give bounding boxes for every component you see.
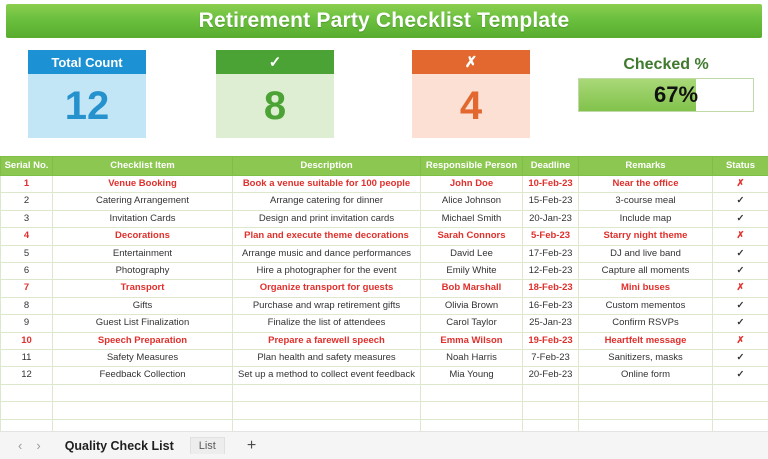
cell-serial[interactable]: 7 — [1, 280, 53, 297]
cell-remarks[interactable]: Sanitizers, masks — [579, 350, 713, 367]
column-header-serial[interactable]: Serial No. — [1, 157, 53, 176]
cell-description[interactable]: Plan health and safety measures — [233, 350, 421, 367]
status-cross-icon[interactable]: ✗ — [713, 176, 768, 193]
status-cross-icon[interactable]: ✗ — [713, 280, 768, 297]
cell-remarks[interactable]: Custom mementos — [579, 297, 713, 314]
add-sheet-icon[interactable]: + — [247, 437, 256, 455]
cell-checklist-item[interactable]: Safety Measures — [53, 350, 233, 367]
status-check-icon[interactable]: ✓ — [713, 315, 768, 332]
cell-remarks[interactable]: 3-course meal — [579, 193, 713, 210]
cell-description[interactable]: Arrange music and dance performances — [233, 245, 421, 262]
cell-empty[interactable] — [53, 384, 233, 401]
column-header-description[interactable]: Description — [233, 157, 421, 176]
cell-empty[interactable] — [523, 384, 579, 401]
cell-description[interactable]: Book a venue suitable for 100 people — [233, 176, 421, 193]
checklist-table: Serial No. Checklist Item Description Re… — [0, 156, 768, 455]
cell-serial[interactable]: 3 — [1, 210, 53, 227]
table-row[interactable]: 8GiftsPurchase and wrap retirement gifts… — [1, 297, 768, 314]
table-row[interactable]: 2Catering ArrangementArrange catering fo… — [1, 193, 768, 210]
cell-serial[interactable]: 1 — [1, 176, 53, 193]
cell-empty[interactable] — [523, 402, 579, 419]
cell-checklist-item[interactable]: Feedback Collection — [53, 367, 233, 384]
kpi-card-total-count: Total Count 12 — [28, 50, 146, 138]
cell-serial[interactable]: 12 — [1, 367, 53, 384]
cell-description[interactable]: Purchase and wrap retirement gifts — [233, 297, 421, 314]
cell-deadline[interactable]: 17-Feb-23 — [523, 245, 579, 262]
sheet-grid[interactable]: Serial No. Checklist Item Description Re… — [0, 156, 768, 432]
cell-empty[interactable] — [53, 402, 233, 419]
cell-serial[interactable]: 8 — [1, 297, 53, 314]
kpi-total-count-value: 12 — [28, 74, 146, 138]
cell-serial[interactable]: 4 — [1, 228, 53, 245]
cell-checklist-item[interactable]: Entertainment — [53, 245, 233, 262]
cell-responsible-person[interactable]: John Doe — [421, 176, 523, 193]
cell-serial[interactable]: 6 — [1, 263, 53, 280]
cell-remarks[interactable]: Mini buses — [579, 280, 713, 297]
cell-deadline[interactable]: 16-Feb-23 — [523, 297, 579, 314]
cell-remarks[interactable]: Online form — [579, 367, 713, 384]
table-row[interactable]: 9Guest List FinalizationFinalize the lis… — [1, 315, 768, 332]
cell-checklist-item[interactable]: Catering Arrangement — [53, 193, 233, 210]
cell-empty[interactable] — [1, 384, 53, 401]
cell-responsible-person[interactable]: Emily White — [421, 263, 523, 280]
kpi-band: Total Count 12 ✓ 8 ✗ 4 Checked % 67% — [0, 42, 768, 150]
cell-responsible-person[interactable]: Noah Harris — [421, 350, 523, 367]
cell-deadline[interactable]: 5-Feb-23 — [523, 228, 579, 245]
cell-empty[interactable] — [579, 402, 713, 419]
checked-percent-bar: 67% — [578, 78, 754, 112]
cell-description[interactable]: Arrange catering for dinner — [233, 193, 421, 210]
cell-deadline[interactable]: 15-Feb-23 — [523, 193, 579, 210]
cell-checklist-item[interactable]: Transport — [53, 280, 233, 297]
cell-responsible-person[interactable]: Michael Smith — [421, 210, 523, 227]
table-row[interactable]: 6PhotographyHire a photographer for the … — [1, 263, 768, 280]
spreadsheet-app: Retirement Party Checklist Template Tota… — [0, 0, 768, 459]
cell-serial[interactable]: 10 — [1, 332, 53, 349]
cell-deadline[interactable]: 7-Feb-23 — [523, 350, 579, 367]
cell-deadline[interactable]: 20-Feb-23 — [523, 367, 579, 384]
sheet-tab-list[interactable]: List — [190, 437, 225, 454]
sheet-nav-arrows[interactable]: ‹ › — [18, 438, 41, 453]
cell-description[interactable]: Finalize the list of attendees — [233, 315, 421, 332]
cell-remarks[interactable]: Capture all moments — [579, 263, 713, 280]
cell-description[interactable]: Set up a method to collect event feedbac… — [233, 367, 421, 384]
cell-responsible-person[interactable]: Bob Marshall — [421, 280, 523, 297]
checked-percent-value: 67% — [589, 79, 754, 111]
chevron-left-icon[interactable]: ‹ — [18, 438, 22, 453]
cell-empty[interactable] — [233, 384, 421, 401]
cell-deadline[interactable]: 19-Feb-23 — [523, 332, 579, 349]
page-title: Retirement Party Checklist Template — [199, 9, 570, 33]
table-row-empty[interactable] — [1, 402, 768, 419]
cell-remarks[interactable]: Heartfelt message — [579, 332, 713, 349]
cell-checklist-item[interactable]: Speech Preparation — [53, 332, 233, 349]
cell-remarks[interactable]: Starry night theme — [579, 228, 713, 245]
column-header-checklist-item[interactable]: Checklist Item — [53, 157, 233, 176]
cell-checklist-item[interactable]: Photography — [53, 263, 233, 280]
kpi-total-count-label: Total Count — [28, 50, 146, 74]
cell-serial[interactable]: 5 — [1, 245, 53, 262]
kpi-unchecked-count-value: 4 — [412, 74, 530, 138]
cell-deadline[interactable]: 25-Jan-23 — [523, 315, 579, 332]
cell-serial[interactable]: 9 — [1, 315, 53, 332]
status-cross-icon[interactable]: ✗ — [713, 228, 768, 245]
table-row-empty[interactable] — [1, 384, 768, 401]
checked-percent-label: Checked % — [578, 56, 754, 74]
table-header-row: Serial No. Checklist Item Description Re… — [1, 157, 768, 176]
table-row[interactable]: 11Safety MeasuresPlan health and safety … — [1, 350, 768, 367]
sheet-tab-quality-check-list[interactable]: Quality Check List — [59, 439, 180, 453]
cell-checklist-item[interactable]: Decorations — [53, 228, 233, 245]
check-icon: ✓ — [216, 50, 334, 74]
kpi-card-checked-count: ✓ 8 — [216, 50, 334, 138]
cell-responsible-person[interactable]: Carol Taylor — [421, 315, 523, 332]
table-row[interactable]: 5EntertainmentArrange music and dance pe… — [1, 245, 768, 262]
column-header-remarks[interactable]: Remarks — [579, 157, 713, 176]
cell-deadline[interactable]: 18-Feb-23 — [523, 280, 579, 297]
table-row[interactable]: 3Invitation CardsDesign and print invita… — [1, 210, 768, 227]
cell-description[interactable]: Design and print invitation cards — [233, 210, 421, 227]
cell-empty[interactable] — [713, 402, 768, 419]
cell-remarks[interactable]: Near the office — [579, 176, 713, 193]
chevron-right-icon[interactable]: › — [36, 438, 40, 453]
cell-empty[interactable] — [421, 384, 523, 401]
status-check-icon[interactable]: ✓ — [713, 263, 768, 280]
cell-remarks[interactable]: DJ and live band — [579, 245, 713, 262]
column-header-status[interactable]: Status — [713, 157, 768, 176]
status-check-icon[interactable]: ✓ — [713, 193, 768, 210]
cell-responsible-person[interactable]: Alice Johnson — [421, 193, 523, 210]
cell-empty[interactable] — [1, 402, 53, 419]
table-row[interactable]: 1Venue BookingBook a venue suitable for … — [1, 176, 768, 193]
cell-description[interactable]: Hire a photographer for the event — [233, 263, 421, 280]
table-body: 1Venue BookingBook a venue suitable for … — [1, 176, 768, 455]
cell-description[interactable]: Plan and execute theme decorations — [233, 228, 421, 245]
cell-empty[interactable] — [233, 402, 421, 419]
status-check-icon[interactable]: ✓ — [713, 297, 768, 314]
table-row[interactable]: 7TransportOrganize transport for guestsB… — [1, 280, 768, 297]
cell-deadline[interactable]: 20-Jan-23 — [523, 210, 579, 227]
cell-description[interactable]: Prepare a farewell speech — [233, 332, 421, 349]
cell-checklist-item[interactable]: Guest List Finalization — [53, 315, 233, 332]
cell-deadline[interactable]: 10-Feb-23 — [523, 176, 579, 193]
kpi-card-unchecked-count: ✗ 4 — [412, 50, 530, 138]
cell-checklist-item[interactable]: Invitation Cards — [53, 210, 233, 227]
page-title-banner: Retirement Party Checklist Template — [6, 4, 762, 38]
cell-remarks[interactable]: Include map — [579, 210, 713, 227]
cell-responsible-person[interactable]: Sarah Connors — [421, 228, 523, 245]
cell-checklist-item[interactable]: Venue Booking — [53, 176, 233, 193]
cell-deadline[interactable]: 12-Feb-23 — [523, 263, 579, 280]
status-check-icon[interactable]: ✓ — [713, 210, 768, 227]
cell-empty[interactable] — [421, 402, 523, 419]
cell-responsible-person[interactable]: Olivia Brown — [421, 297, 523, 314]
table-row[interactable]: 10Speech PreparationPrepare a farewell s… — [1, 332, 768, 349]
cross-icon: ✗ — [412, 50, 530, 74]
cell-remarks[interactable]: Confirm RSVPs — [579, 315, 713, 332]
cell-serial[interactable]: 2 — [1, 193, 53, 210]
checked-percent-block: Checked % 67% — [578, 56, 754, 132]
cell-description[interactable]: Organize transport for guests — [233, 280, 421, 297]
status-check-icon[interactable]: ✓ — [713, 245, 768, 262]
status-cross-icon[interactable]: ✗ — [713, 332, 768, 349]
status-check-icon[interactable]: ✓ — [713, 367, 768, 384]
sheet-tab-bar: ‹ › Quality Check List List + — [0, 431, 768, 459]
cell-checklist-item[interactable]: Gifts — [53, 297, 233, 314]
table-row[interactable]: 12Feedback CollectionSet up a method to … — [1, 367, 768, 384]
cell-serial[interactable]: 11 — [1, 350, 53, 367]
cell-empty[interactable] — [713, 384, 768, 401]
cell-responsible-person[interactable]: David Lee — [421, 245, 523, 262]
cell-responsible-person[interactable]: Mia Young — [421, 367, 523, 384]
column-header-deadline[interactable]: Deadline — [523, 157, 579, 176]
cell-empty[interactable] — [579, 384, 713, 401]
kpi-checked-count-value: 8 — [216, 74, 334, 138]
table-row[interactable]: 4DecorationsPlan and execute theme decor… — [1, 228, 768, 245]
column-header-responsible-person[interactable]: Responsible Person — [421, 157, 523, 176]
cell-responsible-person[interactable]: Emma Wilson — [421, 332, 523, 349]
status-check-icon[interactable]: ✓ — [713, 350, 768, 367]
